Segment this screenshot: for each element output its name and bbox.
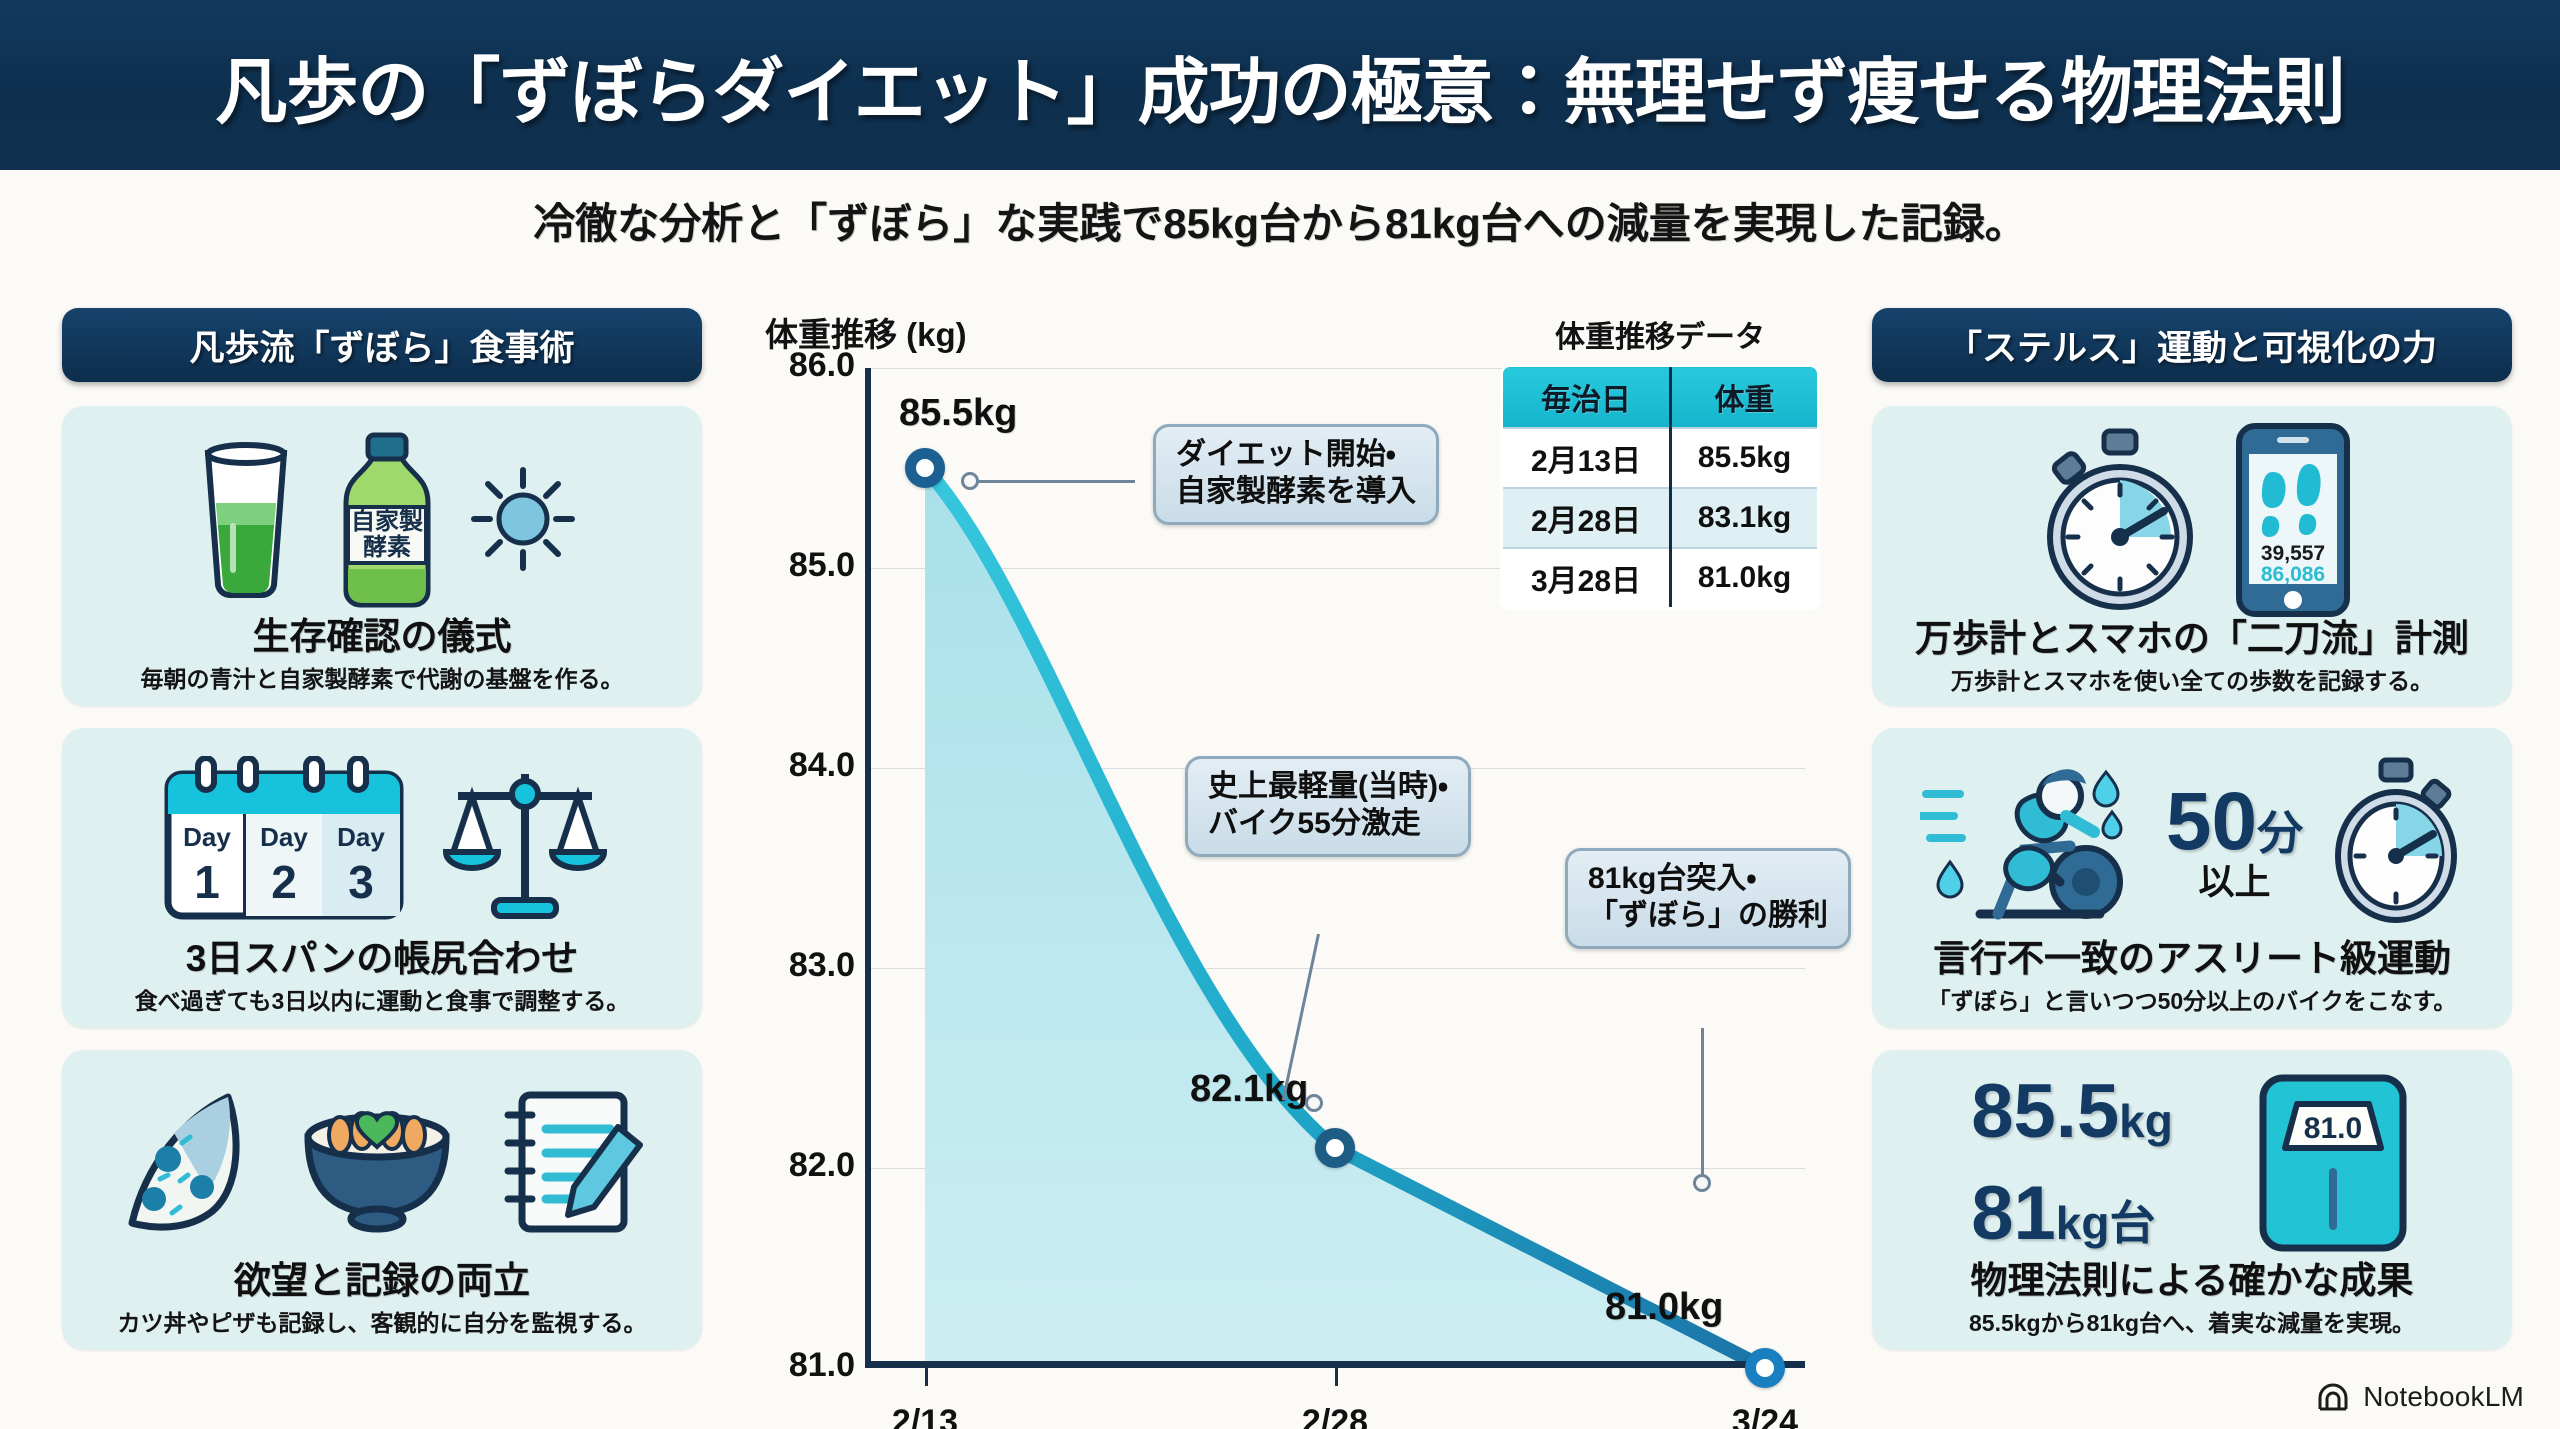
header-bar: 凡歩の「ずぼらダイエット」成功の極意：無理せず痩せる物理法則 [0, 0, 2560, 170]
infographic-page: 凡歩の「ずぼらダイエット」成功の極意：無理せず痩せる物理法則 冷徹な分析と「ずぼ… [0, 0, 2560, 1429]
page-subtitle: 冷徹な分析と「ずぼら」な実践で85kg台から81kg台への減量を実現した記録。 [0, 190, 2560, 251]
card-three-day-balance[interactable]: Day Day Day 1 2 3 [62, 728, 702, 1028]
annotation-line-2: 「ずぼら」の勝利 [1588, 898, 1828, 935]
sun-icon [468, 464, 578, 574]
chart-annotation-start: ダイエット開始・ 自家製酵素を導入 [1153, 424, 1439, 525]
y-tick: 83.0 [747, 946, 855, 985]
balance-scale-icon [440, 756, 610, 926]
page-title: 凡歩の「ずぼらダイエット」成功の極意：無理せず痩せる物理法則 [215, 33, 2344, 138]
card-art: 50分 以上 [1888, 742, 2496, 940]
data-table-title: 体重推移データ [1500, 312, 1820, 356]
stopwatch-icon [2032, 425, 2207, 615]
card-art: Day Day Day 1 2 3 [78, 742, 686, 940]
svg-text:2: 2 [271, 856, 297, 908]
bike-duration-badge: 50分 以上 [2166, 783, 2303, 899]
notebooklm-logo-icon [2317, 1382, 2351, 1412]
badge-subtext: 以上 [2198, 865, 2270, 899]
cell-date: 2月13日 [1502, 428, 1671, 488]
y-tick: 84.0 [747, 746, 855, 785]
homemade-enzyme-bottle-icon: 自家製 酵素 [332, 429, 442, 609]
card-title: 3日スパンの帳尻合わせ [186, 940, 578, 979]
card-description: 毎朝の青汁と自家製酵素で代謝の基盤を作る。 [141, 660, 624, 694]
cell-weight: 83.1kg [1671, 488, 1819, 548]
card-description: 万歩計とスマホを使い全ての歩数を記録する。 [1951, 662, 2433, 696]
cell-weight: 85.5kg [1671, 428, 1819, 488]
card-art: 39,557 86,086 [1888, 420, 2496, 620]
annotation-line-1: ダイエット開始・ [1176, 437, 1416, 474]
chart-annotation-goal: 81kg台突入・ 「ずぼら」の勝利 [1565, 848, 1851, 949]
table-row: 3月28日 81.0kg [1502, 548, 1819, 609]
footer-brand-label: NotebookLM [2363, 1381, 2524, 1413]
left-column-header-label: 凡歩流「ずぼら」食事術 [189, 320, 574, 371]
notebook-pencil-icon [488, 1081, 648, 1246]
cell-date: 3月28日 [1502, 548, 1671, 609]
left-column: 凡歩流「ずぼら」食事術 自家製 酵素 [62, 308, 702, 1372]
table-header-row: 毎治日 体重 [1502, 366, 1819, 429]
svg-text:3: 3 [348, 856, 374, 908]
y-tick: 86.0 [747, 346, 855, 385]
stopwatch-icon [2329, 756, 2464, 926]
y-tick: 81.0 [747, 1346, 855, 1385]
cell-date: 2月28日 [1502, 488, 1671, 548]
result-stats: 85.5kg 81kg台 [1971, 1074, 2173, 1252]
x-tick: 2/28 [1302, 1403, 1368, 1429]
card-description: カツ丼やピザも記録し、客観的に自分を監視する。 [118, 1304, 647, 1338]
card-title: 生存確認の儀式 [253, 618, 512, 657]
data-point[interactable] [1315, 1128, 1355, 1168]
x-tick: 2/13 [892, 1403, 958, 1429]
annotation-line-1: 81kg台突入・ [1588, 861, 1828, 898]
card-diet-ritual[interactable]: 自家製 酵素 生存確認の儀式 毎朝の青汁と自家製酵素で代謝の基盤を作る。 [62, 406, 702, 706]
stat-end-weight: 81kg台 [1971, 1176, 2155, 1252]
data-point[interactable] [905, 448, 945, 488]
data-point-label: 82.1kg [1190, 1068, 1308, 1111]
card-result-summary[interactable]: 85.5kg 81kg台 81.0 物理法則による確かな成果 85.5kgから8… [1872, 1050, 2512, 1350]
card-desire-and-record[interactable]: 欲望と記録の両立 カツ丼やピザも記録し、客観的に自分を監視する。 [62, 1050, 702, 1350]
stat-start-weight: 85.5kg [1971, 1074, 2173, 1150]
svg-text:Day: Day [183, 822, 231, 852]
speed-lines [1920, 794, 1962, 838]
badge-number-wrap: 50分 [2166, 783, 2303, 861]
phone-step-secondary: 86,086 [2260, 563, 2324, 586]
spin-bike-rider-icon [1920, 754, 2140, 929]
footer: NotebookLM [2317, 1381, 2524, 1413]
svg-text:Day: Day [337, 822, 385, 852]
card-title: 欲望と記録の両立 [234, 1262, 530, 1301]
bathroom-scale-icon: 81.0 [2253, 1068, 2413, 1258]
svg-text:Day: Day [260, 822, 308, 852]
cell-weight: 81.0kg [1671, 548, 1819, 609]
y-tick: 85.0 [747, 546, 855, 585]
card-bike-exercise[interactable]: 50分 以上 言行不一致のアスリート級運動 [1872, 728, 2512, 1028]
x-tick: 3/24 [1732, 1403, 1798, 1429]
weight-data-table: 体重推移データ 毎治日 体重 2月13日 85.5kg 2月28日 83.1kg [1500, 312, 1820, 610]
card-art: 85.5kg 81kg台 81.0 [1888, 1064, 2496, 1262]
katsudon-bowl-icon [292, 1083, 462, 1243]
right-column-header-label: 「ステルス」運動と可視化の力 [1947, 320, 2437, 371]
y-tick: 82.0 [747, 1146, 855, 1185]
annotation-line-1: 史上最軽量(当時)・ [1208, 769, 1448, 806]
svg-text:1: 1 [194, 856, 220, 908]
card-title: 万歩計とスマホの「二刀流」計測 [1915, 620, 2469, 659]
card-title: 物理法則による確かな成果 [1971, 1262, 2414, 1301]
column-header-date: 毎治日 [1502, 366, 1671, 429]
pizza-slice-icon [116, 1083, 266, 1243]
data-point[interactable] [1745, 1348, 1785, 1388]
right-column-header: 「ステルス」運動と可視化の力 [1872, 308, 2512, 382]
svg-text:酵素: 酵素 [363, 534, 411, 561]
card-description: 85.5kgから81kg台へ、着実な減量を実現。 [1969, 1304, 2415, 1338]
table-row: 2月13日 85.5kg [1502, 428, 1819, 488]
right-column: 「ステルス」運動と可視化の力 [1872, 308, 2512, 1372]
calendar-3days-icon: Day Day Day 1 2 3 [154, 756, 414, 926]
left-column-header: 凡歩流「ずぼら」食事術 [62, 308, 702, 382]
green-juice-glass-icon [186, 439, 306, 599]
phone-step-primary: 39,557 [2260, 542, 2324, 565]
table-row: 2月28日 83.1kg [1502, 488, 1819, 548]
card-description: 「ずぼら」と言いつつ50分以上のバイクをこなす。 [1928, 982, 2457, 1016]
chart-annotation-lowest: 史上最軽量(当時)・ バイク55分激走 [1185, 756, 1471, 857]
card-art [78, 1064, 686, 1262]
column-header-weight: 体重 [1671, 366, 1819, 429]
data-point-label: 81.0kg [1605, 1286, 1723, 1329]
annotation-line-2: バイク55分激走 [1208, 806, 1448, 843]
card-description: 食べ過ぎても3日以内に運動と食事で調整する。 [135, 982, 630, 1016]
data-point-label: 85.5kg [899, 392, 1017, 435]
card-title: 言行不一致のアスリート級運動 [1933, 940, 2451, 979]
svg-text:自家製: 自家製 [351, 507, 423, 535]
card-step-tracking[interactable]: 39,557 86,086 万歩計とスマホの「二刀流」計測 万歩計とスマホを使い… [1872, 406, 2512, 706]
smartphone-pedometer-icon: 39,557 86,086 [2233, 420, 2353, 620]
card-art: 自家製 酵素 [78, 420, 686, 618]
annotation-line-2: 自家製酵素を導入 [1176, 474, 1416, 511]
scale-reading: 81.0 [2304, 1112, 2362, 1145]
